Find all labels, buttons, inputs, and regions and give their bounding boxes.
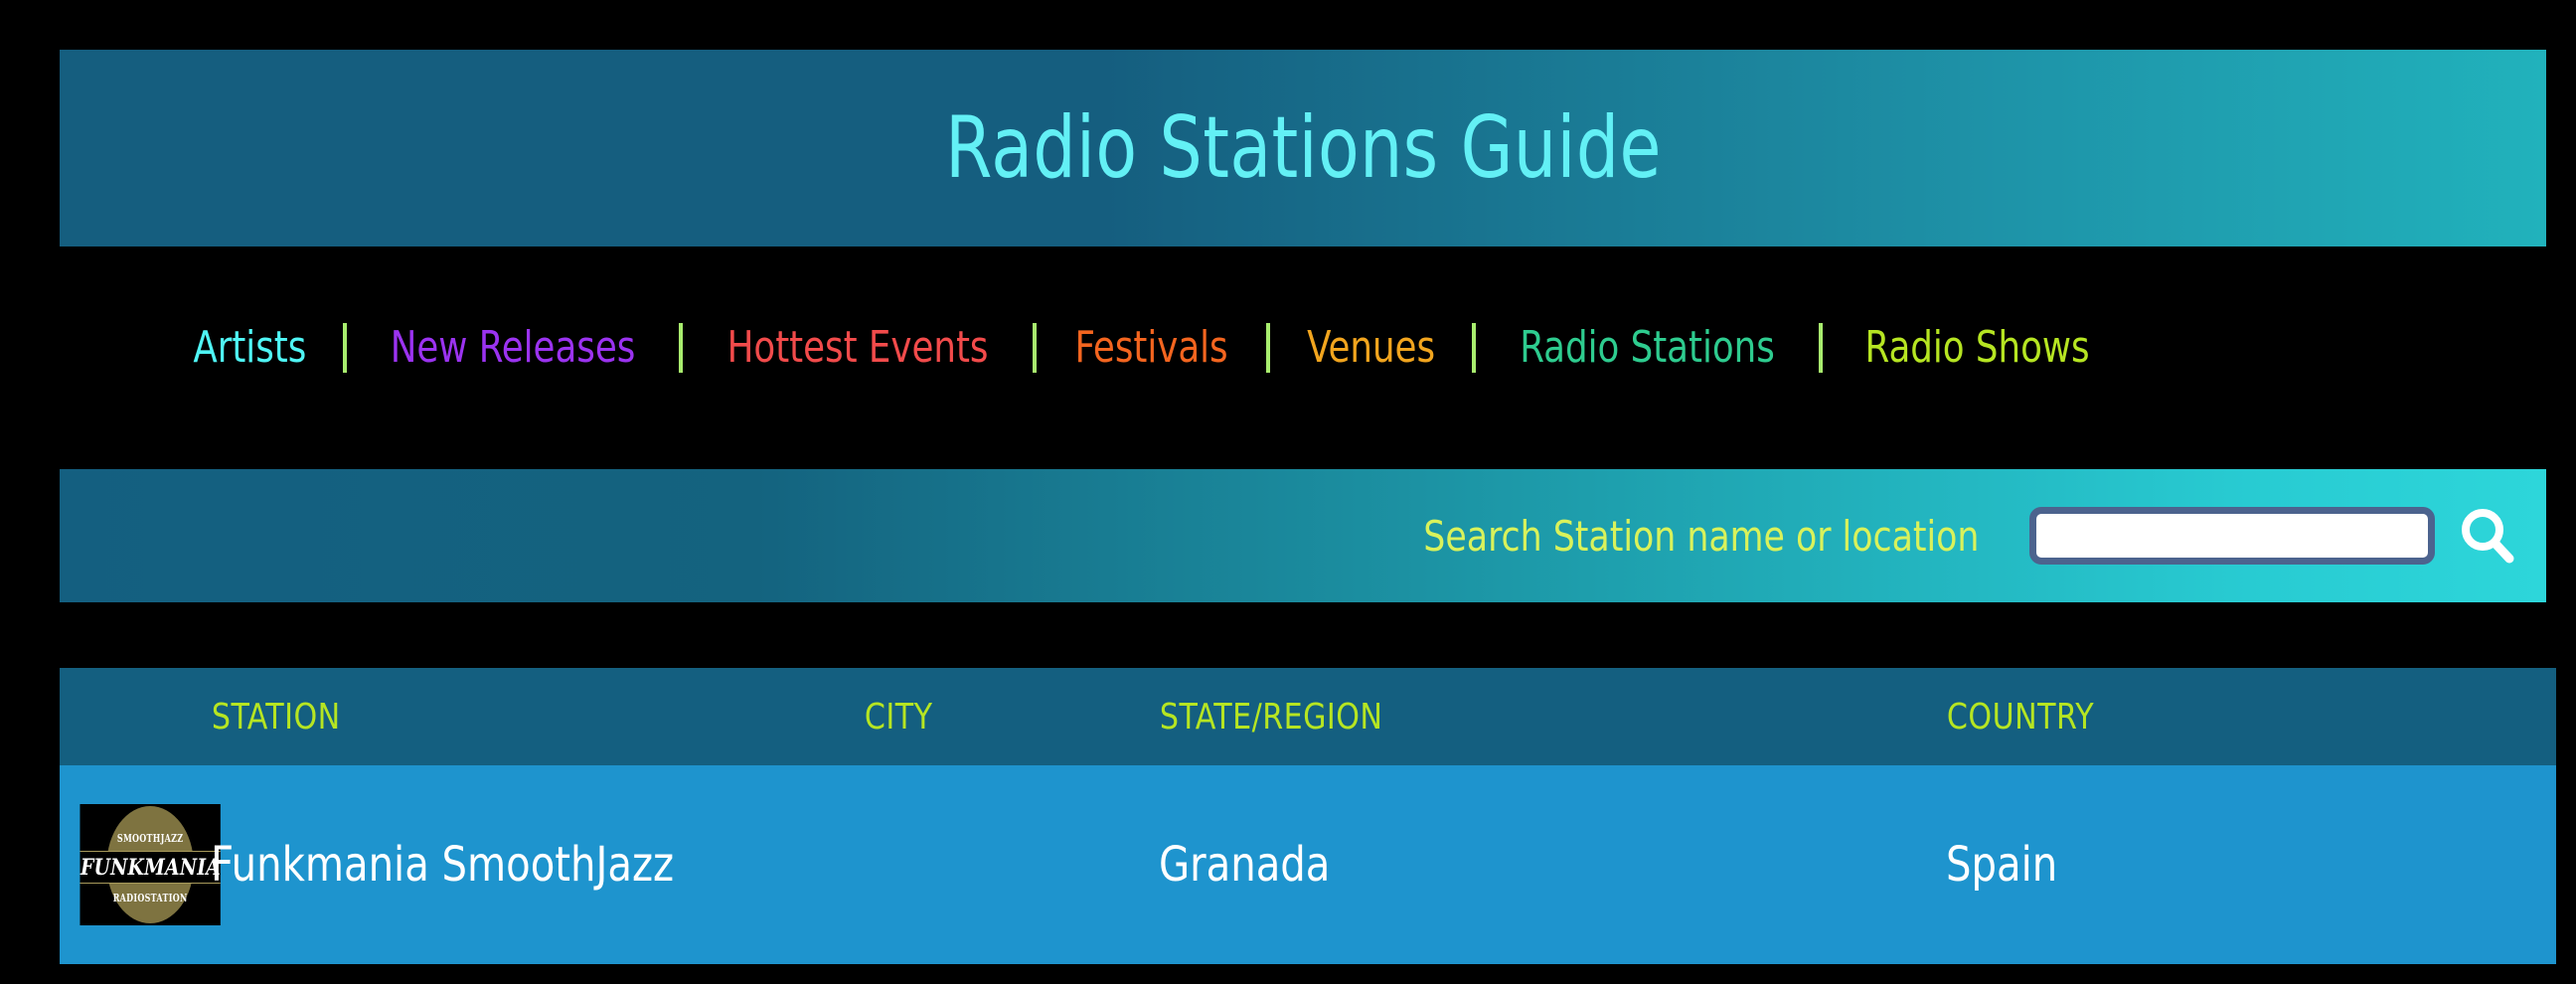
cell-city [864, 765, 1138, 964]
nav-separator [679, 323, 683, 373]
page-root: Radio Stations Guide Artists New Release… [0, 0, 2576, 984]
logo-bottom-text: RADIOSTATION [95, 893, 205, 903]
main-navigation: Artists New Releases Hottest Events Fest… [179, 310, 2110, 386]
column-header-country: COUNTRY [1946, 668, 2513, 765]
nav-item-new-releases[interactable]: New Releases [383, 326, 642, 370]
logo-top-text: SMOOTHJAZZ [95, 833, 205, 844]
table-header: STATION CITY STATE/REGION COUNTRY [60, 668, 2556, 765]
search-icon [2456, 504, 2519, 568]
page-title: Radio Stations Guide [945, 105, 1662, 191]
nav-separator [1266, 323, 1270, 373]
table-row[interactable]: SMOOTHJAZZ FUNKMANIA RADIOSTATION Funkma… [60, 765, 2556, 964]
nav-item-festivals[interactable]: Festivals [1067, 326, 1234, 370]
stations-table: STATION CITY STATE/REGION COUNTRY SMOOTH… [60, 668, 2556, 964]
nav-item-radio-shows[interactable]: Radio Shows [1858, 326, 2097, 370]
nav-separator [1033, 323, 1037, 373]
table-header-row: STATION CITY STATE/REGION COUNTRY [60, 668, 2556, 765]
stations-table-wrapper: STATION CITY STATE/REGION COUNTRY SMOOTH… [60, 668, 2546, 964]
search-button[interactable] [2449, 497, 2526, 574]
nav-item-artists[interactable]: Artists [186, 326, 313, 370]
cell-station-name: Funkmania SmoothJazz [211, 765, 818, 964]
search-bar: Search Station name or location [60, 469, 2546, 602]
column-header-logo [60, 668, 200, 765]
cell-logo: SMOOTHJAZZ FUNKMANIA RADIOSTATION [60, 765, 200, 964]
station-logo-icon: SMOOTHJAZZ FUNKMANIA RADIOSTATION [80, 804, 220, 925]
column-header-city: CITY [864, 668, 1138, 765]
column-header-station: STATION [211, 668, 818, 765]
nav-separator [1819, 323, 1823, 373]
nav-item-radio-stations[interactable]: Radio Stations [1513, 326, 1782, 370]
search-label: Search Station name or location [1424, 512, 1980, 561]
nav-item-hottest-events[interactable]: Hottest Events [720, 326, 995, 370]
column-header-state: STATE/REGION [1159, 668, 1891, 765]
header-banner: Radio Stations Guide [60, 50, 2546, 246]
search-input[interactable] [2029, 507, 2435, 565]
logo-main-text: FUNKMANIA [80, 857, 221, 879]
nav-separator [343, 323, 347, 373]
logo-band: FUNKMANIA [80, 851, 220, 884]
cell-state-region: Granada [1159, 765, 1891, 964]
table-body: SMOOTHJAZZ FUNKMANIA RADIOSTATION Funkma… [60, 765, 2556, 964]
cell-country: Spain [1946, 765, 2513, 964]
nav-item-venues[interactable]: Venues [1300, 326, 1442, 370]
nav-separator [1472, 323, 1476, 373]
